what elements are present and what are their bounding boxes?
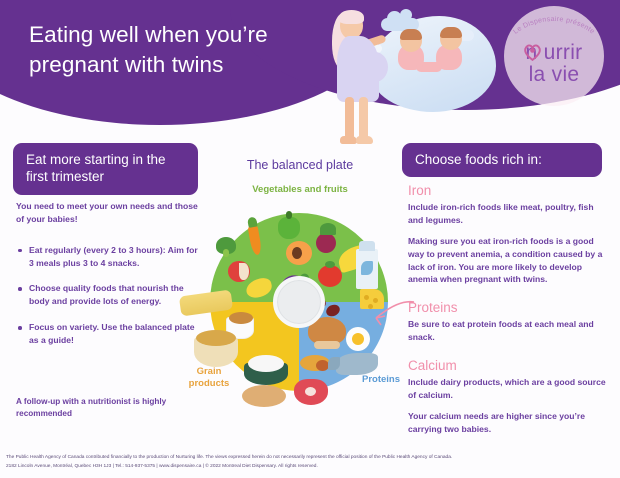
footer-line-funding: The Public Health Agency of Canada contr… (6, 454, 614, 463)
page-title: Eating well when you’re pregnant with tw… (29, 20, 359, 79)
baby-hair (440, 27, 462, 38)
left-panel-body: You need to meet your own needs and thos… (16, 200, 198, 360)
brand-logo: Le Dispensaire présente n urrir la vie (496, 4, 612, 108)
bell-pepper-icon (278, 217, 300, 239)
section-text-proteins-1: Be sure to eat protein foods at each mea… (408, 318, 608, 344)
fish-icon (336, 353, 378, 375)
section-title-proteins: Proteins (408, 300, 608, 315)
list-item: Eat regularly (every 2 to 3 hours): Aim … (16, 244, 198, 270)
apple-icon (228, 261, 250, 282)
logo-word-line2: la vie (496, 64, 612, 85)
section-title-iron: Iron (408, 183, 608, 198)
mother-foot (340, 136, 357, 144)
empty-plate-icon (273, 276, 325, 328)
tomato-icon (318, 265, 342, 287)
list-item: Focus on variety. Use the balanced plate… (16, 321, 198, 347)
mother-dress (337, 36, 379, 102)
footer-line-contact: 2182 Lincoln Avenue, Montréal, Quebec H3… (6, 463, 614, 472)
nuts-icon (300, 355, 330, 371)
potato-icon (242, 385, 286, 407)
heart-icon (523, 43, 542, 61)
hero-illustration (318, 0, 508, 152)
logo-word-line1: n urrir (496, 42, 612, 63)
right-panel-heading: Choose foods rich in: (402, 143, 602, 177)
list-item: Choose quality foods that nourish the bo… (16, 282, 198, 308)
grain-bowl-icon (194, 337, 238, 367)
baby-hair (400, 29, 422, 40)
rice-bowl-icon (244, 363, 288, 385)
infographic-page: Eating well when you’re pregnant with tw… (0, 0, 620, 478)
mother-foot (356, 136, 373, 144)
section-text-calcium-1: Include dairy products, which are a good… (408, 376, 608, 402)
nutritionist-followup-note: A follow-up with a nutritionist is highl… (16, 396, 201, 421)
mother-hair-top (339, 10, 364, 24)
mother-leg (359, 97, 368, 140)
baby-leg (422, 62, 442, 72)
section-text-iron-2: Making sure you eat iron-rich foods is a… (408, 235, 608, 287)
section-text-iron-1: Include iron-rich foods like meat, poult… (408, 201, 608, 227)
section-text-calcium-2: Your calcium needs are higher since you’… (408, 410, 608, 436)
left-panel-intro: You need to meet your own needs and thos… (16, 200, 198, 227)
plate-label-vegetables: Vegetables and fruits (205, 184, 395, 195)
milk-carton-icon (356, 249, 378, 289)
left-panel-bullet-list: Eat regularly (every 2 to 3 hours): Aim … (16, 244, 198, 347)
section-title-calcium: Calcium (408, 358, 608, 373)
mother-leg (345, 97, 354, 140)
beet-icon (316, 233, 336, 253)
right-panel-body: Iron Include iron-rich foods like meat, … (408, 183, 608, 444)
peach-icon (286, 241, 312, 265)
logo-tagline: Le Dispensaire présente (512, 16, 595, 36)
steak-icon (294, 379, 328, 405)
broccoli-icon (216, 237, 236, 254)
footer-disclaimer: The Public Health Agency of Canada contr… (0, 446, 620, 478)
left-panel-heading: Eat more starting in the first trimester (13, 143, 198, 195)
svg-text:Le Dispensaire présente: Le Dispensaire présente (512, 16, 595, 36)
balanced-plate-title: The balanced plate (205, 158, 395, 172)
